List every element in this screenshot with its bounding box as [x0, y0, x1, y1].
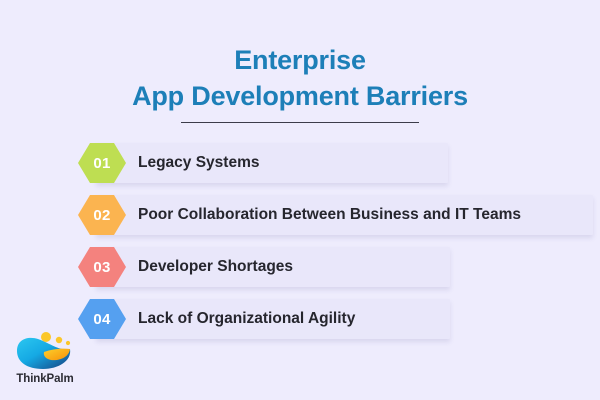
- infographic-canvas: Enterprise App Development Barriers 01 L…: [0, 0, 600, 400]
- row-number-label: 03: [93, 259, 110, 276]
- row-title: Poor Collaboration Between Business and …: [138, 195, 521, 235]
- title-underline: [181, 122, 419, 123]
- page-title: Enterprise App Development Barriers: [0, 42, 600, 123]
- row-title: Developer Shortages: [138, 247, 293, 287]
- row-number-label: 04: [93, 311, 110, 328]
- row-number-label: 01: [93, 155, 110, 172]
- title-line-1: Enterprise: [0, 42, 600, 78]
- brand-logo: ThinkPalm: [10, 331, 80, 385]
- brand-name: ThinkPalm: [10, 373, 80, 385]
- row-number-label: 02: [93, 207, 110, 224]
- row-title: Legacy Systems: [138, 143, 260, 183]
- thinkpalm-wave-icon: [14, 331, 76, 371]
- title-line-2: App Development Barriers: [0, 78, 600, 114]
- row-title: Lack of Organizational Agility: [138, 299, 355, 339]
